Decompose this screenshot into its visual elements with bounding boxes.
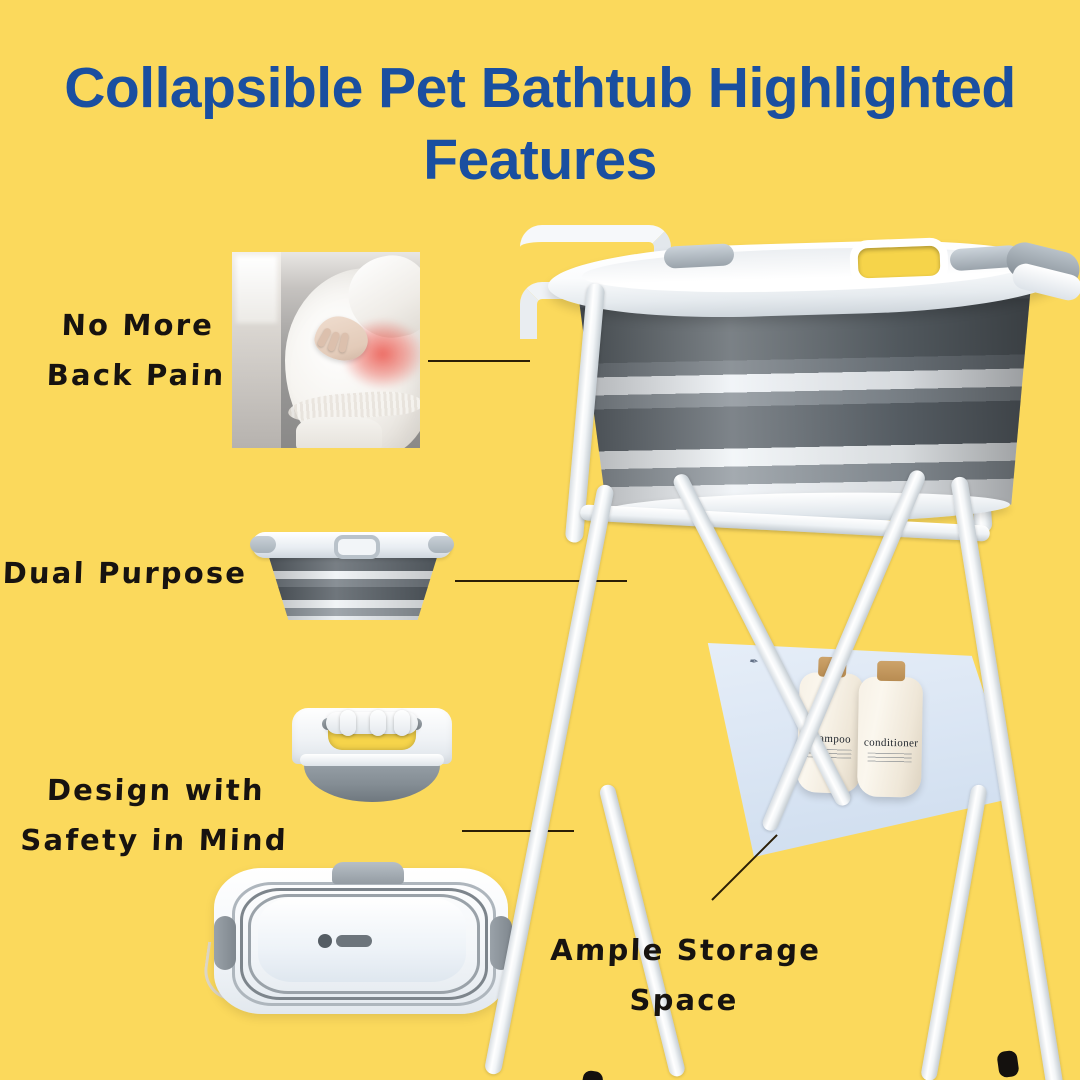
tub-bowl-rim — [300, 754, 444, 766]
handle-grip-ridge — [370, 710, 386, 736]
feature-image-safety-handle — [292, 700, 452, 810]
feature-image-back-pain — [232, 252, 420, 448]
basket-handle-cutout — [334, 535, 380, 559]
collapsed-tub-side-handle-left — [214, 916, 236, 970]
drain-plug-stem — [336, 935, 372, 947]
page-title: Collapsible Pet Bathtub Highlighted Feat… — [0, 52, 1080, 196]
feature-label-dual-purpose: Dual Purpose — [0, 548, 251, 598]
tub-body-shading — [570, 292, 1044, 514]
collapsed-tub-top-view-image — [196, 862, 526, 1022]
frame-leg-lower-right — [920, 784, 988, 1080]
drain-plug-icon — [318, 934, 332, 948]
collapsed-tub-top-handle — [332, 862, 404, 884]
tub-grip-left — [663, 243, 734, 269]
conditioner-bottle: conditioner — [857, 676, 923, 797]
frame-foot — [580, 1069, 604, 1080]
tub-handle-cutout — [849, 237, 949, 286]
feature-image-dual-purpose — [246, 530, 458, 630]
bottle-cap — [877, 661, 905, 681]
basket-grip-left — [250, 536, 276, 553]
bottle-label-text: conditioner — [864, 737, 916, 750]
photo-person-lower — [296, 417, 382, 448]
handle-grip-ridge — [340, 710, 356, 736]
feature-label-safety: Design with Safety in Mind — [8, 765, 301, 865]
infographic-canvas: Collapsible Pet Bathtub Highlighted Feat… — [0, 0, 1080, 1080]
feature-label-storage: Ample Storage Space — [518, 925, 851, 1025]
bottle-label-subtext — [868, 753, 912, 763]
connector-line-back-pain — [428, 360, 530, 362]
feature-label-back-pain: No More Back Pain — [20, 300, 253, 400]
basket-grip-right — [428, 536, 454, 553]
handle-grip-ridge — [394, 710, 410, 736]
basket-shading — [268, 554, 438, 620]
frame-foot — [996, 1050, 1019, 1079]
